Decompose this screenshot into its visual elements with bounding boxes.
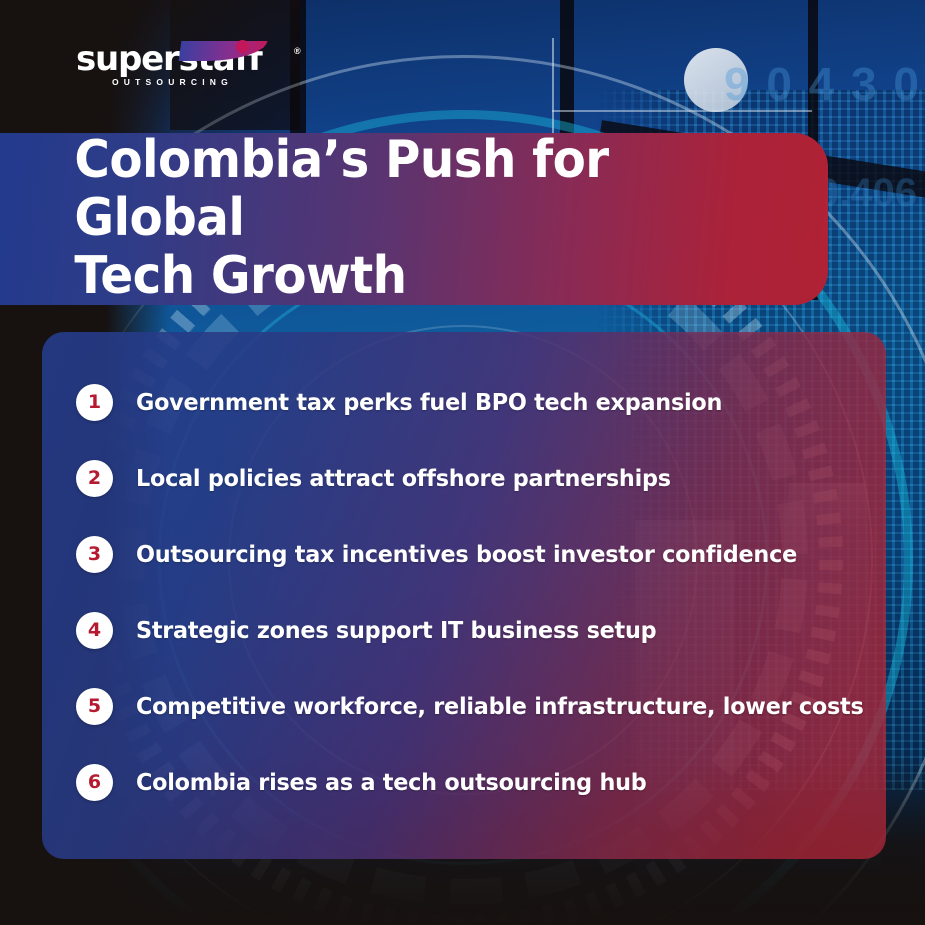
list-number-badge: 3 (76, 536, 113, 573)
page-title-line-2: Tech Growth (74, 246, 406, 306)
background-digits-top: 9 0 4 3 0 (724, 60, 921, 108)
list-item-label: Strategic zones support IT business setu… (136, 616, 656, 644)
list-item: 1 Government tax perks fuel BPO tech exp… (76, 380, 852, 424)
title-banner: Colombia’s Push for Global Tech Growth (0, 133, 828, 305)
infographic-poster: 9 0 4 3 0 6.943 0.406 superstaff ® OUTSO… (0, 0, 925, 925)
list-number-badge: 4 (76, 612, 113, 649)
list-item: 3 Outsourcing tax incentives boost inves… (76, 532, 852, 576)
list-item-label: Outsourcing tax incentives boost investo… (136, 540, 797, 568)
list-item: 2 Local policies attract offshore partne… (76, 456, 852, 500)
list-number-badge: 2 (76, 460, 113, 497)
logo-dot-icon (236, 40, 249, 53)
list-number-badge: 1 (76, 384, 113, 421)
list-number-badge: 5 (76, 688, 113, 725)
list-item-label: Government tax perks fuel BPO tech expan… (136, 388, 722, 416)
list-item-label: Local policies attract offshore partners… (136, 464, 671, 492)
page-title-line-1: Colombia’s Push for Global (74, 130, 608, 248)
logo-registered-mark: ® (294, 46, 301, 56)
list-number-badge: 6 (76, 764, 113, 801)
superstaff-logo[interactable]: superstaff ® OUTSOURCING (76, 42, 306, 88)
page-title: Colombia’s Push for Global Tech Growth (0, 132, 770, 305)
list-item-label: Colombia rises as a tech outsourcing hub (136, 768, 647, 796)
hud-crosshair-horizontal (552, 110, 812, 112)
list-item: 6 Colombia rises as a tech outsourcing h… (76, 760, 852, 804)
list-item: 4 Strategic zones support IT business se… (76, 608, 852, 652)
list-item-label: Competitive workforce, reliable infrastr… (136, 692, 864, 720)
list-item: 5 Competitive workforce, reliable infras… (76, 684, 852, 728)
numbered-list-card: 1 Government tax perks fuel BPO tech exp… (42, 332, 886, 859)
